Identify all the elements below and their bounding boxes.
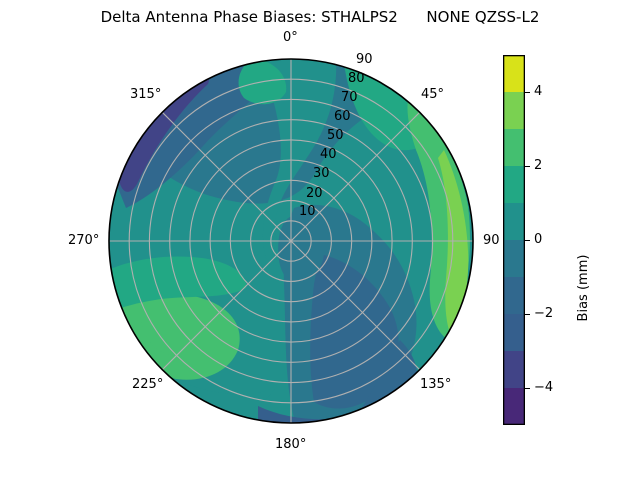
angular-tick-0: 0° xyxy=(283,30,298,45)
radial-tick-10: 10 xyxy=(299,204,316,219)
angular-tick-180: 180° xyxy=(275,437,306,452)
angular-tick-315: 315° xyxy=(130,87,161,102)
colorbar-tick-4: 4 xyxy=(534,84,542,99)
colorbar-tick-minus-4: −4 xyxy=(534,380,553,395)
radial-tick-50: 50 xyxy=(327,128,344,143)
angular-tick-135: 135° xyxy=(420,377,451,392)
radial-tick-80: 80 xyxy=(348,71,365,86)
radial-tick-70: 70 xyxy=(341,90,358,105)
colorbar-tick-2: 2 xyxy=(534,158,542,173)
radial-tick-60: 60 xyxy=(334,109,351,124)
angular-tick-45: 45° xyxy=(421,87,444,102)
colorbar-gradient xyxy=(503,55,525,425)
polar-contour-plot xyxy=(108,58,474,424)
angular-tick-90: 90 xyxy=(483,233,500,248)
figure-canvas: Delta Antenna Phase Biases: STHALPS2 NON… xyxy=(0,0,640,480)
page-title: Delta Antenna Phase Biases: STHALPS2 NON… xyxy=(0,8,640,26)
colorbar[interactable] xyxy=(503,55,525,425)
colorbar-tickmark-2 xyxy=(525,166,530,167)
colorbar-tickmark-m2 xyxy=(525,314,530,315)
radial-tick-90: 90 xyxy=(356,52,373,67)
radial-tick-30: 30 xyxy=(313,166,330,181)
colorbar-tick-minus-2: −2 xyxy=(534,306,553,321)
colorbar-tick-0: 0 xyxy=(534,232,542,247)
colorbar-axis-label: Bias (mm) xyxy=(576,255,591,322)
angular-gridlines xyxy=(109,59,473,423)
colorbar-tickmark-m4 xyxy=(525,388,530,389)
colorbar-tickmark-0 xyxy=(525,240,530,241)
angular-tick-270: 270° xyxy=(68,233,99,248)
polar-axes xyxy=(108,58,474,424)
colorbar-tickmark-4 xyxy=(525,92,530,93)
radial-tick-40: 40 xyxy=(320,147,337,162)
radial-tick-20: 20 xyxy=(306,186,323,201)
colorbar-bands xyxy=(503,55,525,425)
angular-tick-225: 225° xyxy=(132,377,163,392)
